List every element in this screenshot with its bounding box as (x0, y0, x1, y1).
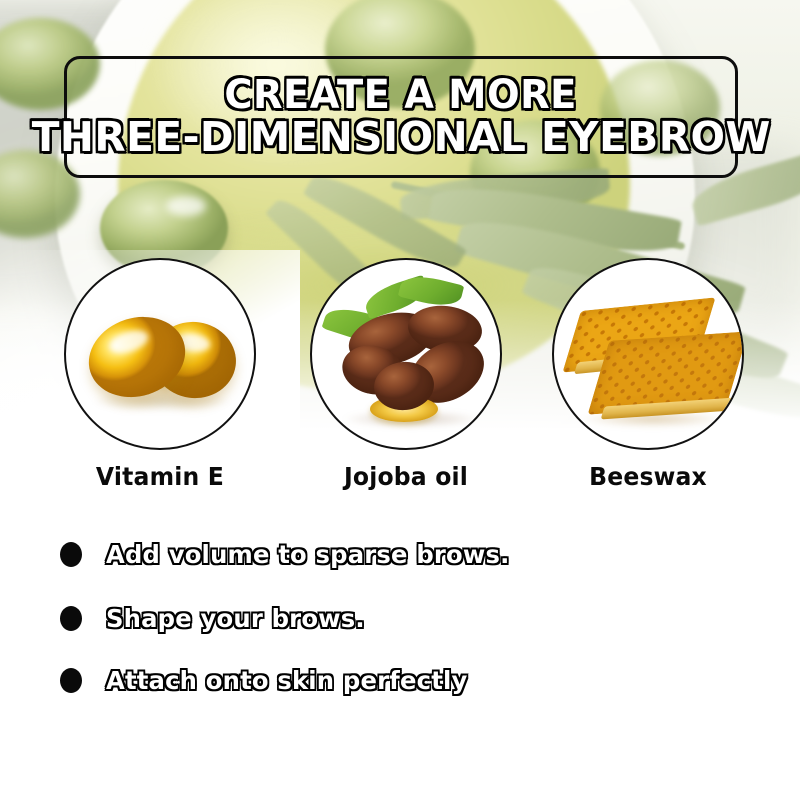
ingredient-label-row: Vitamin E Jojoba oil Beeswax (0, 462, 800, 498)
benefit-text: Attach onto skin perfectly (106, 666, 467, 695)
headline-line-2: THREE-DIMENSIONAL EYEBROW (31, 117, 770, 159)
jojoba-seeds-with-leaves-icon (312, 260, 500, 448)
olive-highlight (166, 196, 206, 216)
ingredient-circle-beeswax (552, 258, 744, 450)
capsule-highlight (107, 326, 151, 357)
ingredient-label-beeswax: Beeswax (558, 462, 738, 491)
ingredient-circle-jojoba-oil (310, 258, 502, 450)
honeycomb-slabs-icon (554, 260, 742, 448)
ingredient-label-vitamin-e: Vitamin E (70, 462, 250, 491)
ingredient-circle-vitamin-e (64, 258, 256, 450)
filled-circle-bullet-icon (60, 668, 82, 693)
benefit-list-item: Shape your brows. (60, 604, 373, 633)
benefit-list: Add volume to sparse brows. Shape your b… (0, 540, 800, 740)
filled-circle-bullet-icon (60, 542, 82, 567)
ingredient-circle-row (0, 258, 800, 452)
headline: CREATE A MORE THREE-DIMENSIONAL EYEBROW (64, 56, 738, 178)
benefit-text: Shape your brows. (106, 604, 365, 633)
benefit-text: Add volume to sparse brows. (106, 540, 510, 569)
filled-circle-bullet-icon (60, 606, 82, 631)
headline-line-1: CREATE A MORE (225, 75, 578, 116)
product-feature-poster: CREATE A MORE THREE-DIMENSIONAL EYEBROW (0, 0, 800, 800)
benefit-list-item: Add volume to sparse brows. (60, 540, 522, 569)
vitamin-e-softgel-capsules-icon (66, 260, 254, 448)
benefit-list-item: Attach onto skin perfectly (60, 666, 479, 695)
ingredient-label-jojoba-oil: Jojoba oil (316, 462, 496, 491)
